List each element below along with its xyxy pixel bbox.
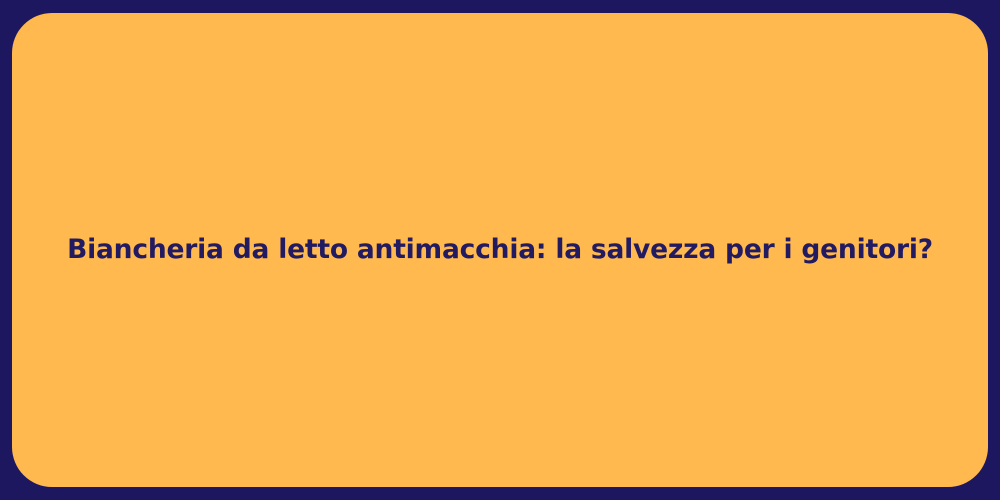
banner-canvas: Biancheria da letto antimacchia: la salv… [0, 0, 1000, 500]
page-title: Biancheria da letto antimacchia: la salv… [43, 233, 957, 266]
headline-card-panel: Biancheria da letto antimacchia: la salv… [12, 13, 988, 487]
